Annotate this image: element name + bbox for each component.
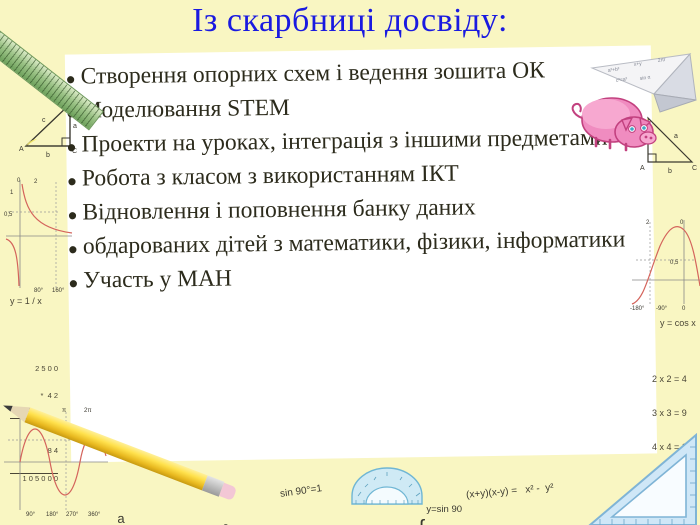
- list-item-label: Моделювання STEM: [81, 90, 639, 124]
- svg-text:a: a: [674, 133, 678, 140]
- svg-text:x+y: x+y: [633, 61, 642, 68]
- svg-text:180°: 180°: [46, 512, 59, 518]
- protractor-icon: [348, 466, 426, 510]
- sin90-formula: sin 90°=1: [279, 483, 322, 500]
- svg-text:c: c: [42, 117, 46, 124]
- bullet-list: • Створення опорних схем і ведення зошит…: [60, 56, 641, 302]
- svg-text:b: b: [46, 152, 50, 158]
- law-of-sines-formula: a sin A = b sin B = c sin C: [89, 465, 152, 525]
- svg-text:b: b: [668, 168, 672, 174]
- slide-canvas: c a b A B C 0 1 0,5 2 80° 160° y = 1 / x…: [0, 0, 700, 525]
- list-item[interactable]: • Моделювання STEM: [61, 90, 639, 130]
- svg-text:π: π: [62, 408, 66, 414]
- list-item[interactable]: • обдарованих дітей з математики, фізики…: [63, 226, 641, 266]
- num: a: [105, 510, 138, 525]
- svg-text:2: 2: [34, 179, 38, 185]
- svg-text:1: 1: [10, 190, 14, 196]
- set-square-icon: [586, 433, 700, 525]
- svg-text:270°: 270°: [66, 512, 79, 518]
- list-item[interactable]: • Робота з класом з використанням ІКТ: [62, 158, 640, 198]
- slide-title: Із скарбниці досвіду:: [0, 2, 700, 40]
- num: a: [215, 519, 235, 525]
- list-item-label: Відновлення і поповнення банку даних: [82, 192, 640, 226]
- pencil-eraser: [219, 483, 237, 501]
- brace-icon: {: [418, 517, 425, 525]
- list-item-label: Проекти на уроках, інтеграція з іншими п…: [81, 124, 639, 158]
- svg-text:0,5: 0,5: [4, 212, 13, 218]
- bullet-dot-icon: •: [62, 202, 82, 232]
- svg-text:0: 0: [680, 220, 684, 226]
- system-line: y=sin 90: [426, 504, 473, 516]
- svg-text:A: A: [19, 146, 24, 153]
- svg-text:90°: 90°: [26, 512, 36, 518]
- law-of-sines-term-1: a sin A: [104, 480, 140, 525]
- list-item-label: обдарованих дітей з математики, фізики, …: [83, 226, 641, 260]
- list-item[interactable]: • Участь у МАН: [63, 260, 641, 300]
- times-table-row: 2 x 2 = 4: [652, 374, 692, 385]
- svg-text:2πr: 2πr: [657, 57, 666, 64]
- bullet-dot-icon: •: [62, 168, 82, 198]
- svg-text:0: 0: [17, 178, 21, 184]
- list-item[interactable]: • Відновлення і поповнення банку даних: [62, 192, 640, 232]
- svg-text:0,5: 0,5: [670, 260, 679, 266]
- times-table-row: 3 x 3 = 9: [652, 408, 692, 419]
- bullet-dot-icon: •: [61, 134, 81, 164]
- svg-text:-90°: -90°: [656, 306, 668, 312]
- bullet-dot-icon: •: [63, 270, 83, 300]
- svg-text:C: C: [692, 165, 697, 172]
- list-item-label: Участь у МАН: [83, 260, 641, 294]
- svg-text:0: 0: [682, 306, 686, 312]
- list-item[interactable]: • Створення опорних схем і ведення зошит…: [60, 56, 638, 96]
- list-item-label: Робота з класом з використанням ІКТ: [82, 158, 640, 192]
- list-item[interactable]: • Проекти на уроках, інтеграція з іншими…: [61, 124, 639, 164]
- hyperbola-label: y = 1 / x: [10, 296, 42, 306]
- pig-icon: [566, 88, 658, 158]
- fraction-sum-term-1: a c: [204, 496, 241, 525]
- svg-text:80°: 80°: [34, 288, 44, 294]
- cosine-label: y = cos x: [660, 318, 696, 328]
- bullet-dot-icon: •: [63, 236, 83, 266]
